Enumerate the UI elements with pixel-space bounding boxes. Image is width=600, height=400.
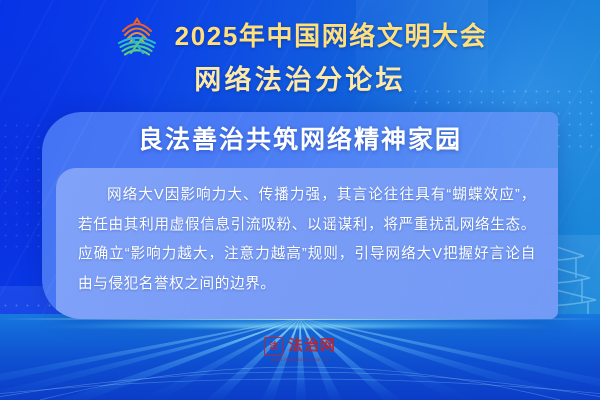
content-card: 良法善治共筑网络精神家园 网络大V因影响力大、传播力强，其言论往往具有“蝴蝶效应… bbox=[42, 112, 558, 319]
light-floor bbox=[0, 314, 600, 400]
conference-pavilion-logo-icon bbox=[113, 15, 161, 57]
content-card-inner: 网络大V因影响力大、传播力强，其言论往往具有“蝴蝶效应”，若任由其利用虚假信息引… bbox=[56, 168, 558, 319]
poster-header: 2025年中国网络文明大会 网络法治分论坛 bbox=[0, 14, 600, 96]
site-watermark: 法 法治网 www.legaldaily.com.cn bbox=[264, 337, 336, 363]
forum-subtitle: 网络法治分论坛 bbox=[0, 64, 600, 96]
card-body-text: 网络大V因影响力大、传播力强，其言论往往具有“蝴蝶效应”，若任由其利用虚假信息引… bbox=[78, 181, 536, 299]
watermark-site-name: 法治网 bbox=[288, 338, 336, 355]
poster-canvas: 2025年中国网络文明大会 网络法治分论坛 良法善治共筑网络精神家园 网络大V因… bbox=[0, 0, 600, 400]
watermark-url: www.legaldaily.com.cn bbox=[271, 357, 328, 363]
dot-grid-icon-middle-left bbox=[0, 120, 44, 250]
card-title: 良法善治共筑网络精神家园 bbox=[42, 124, 558, 156]
conference-title: 2025年中国网络文明大会 bbox=[175, 21, 488, 51]
watermark-seal-icon: 法 bbox=[264, 337, 283, 356]
